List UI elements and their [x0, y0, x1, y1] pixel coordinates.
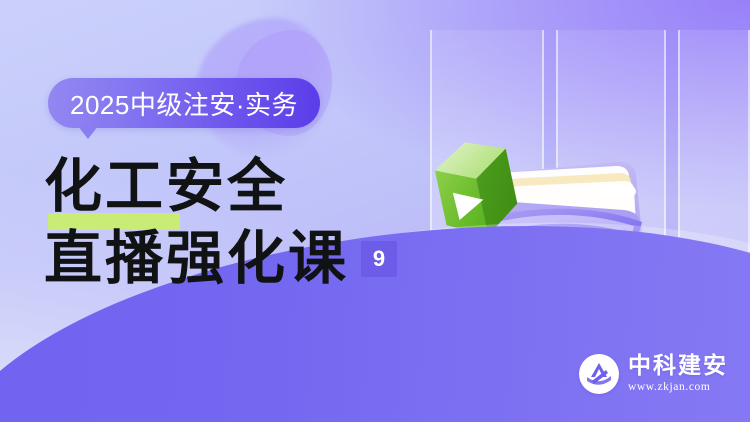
course-badge-tail-icon: [78, 126, 98, 139]
headline-line-2: 直播强化课9: [44, 227, 397, 291]
brand-name: 中科建安: [628, 354, 728, 377]
headline-line-1-text: 化工安全: [44, 154, 288, 219]
brand-text: 中科建安 www.zkjan.com: [628, 354, 728, 394]
brand-logo: 中科建安 www.zkjan.com: [579, 354, 728, 394]
course-badge: 2025中级注安·实务: [48, 78, 320, 128]
headline-line-2-text: 直播强化课: [44, 226, 349, 291]
headline: 化工安全 直播强化课9: [44, 155, 397, 291]
poster-banner: 2025中级注安·实务 化工安全 直播强化课9 中科建安 www.zkjan.c…: [0, 0, 750, 422]
episode-number-badge: 9: [361, 241, 397, 277]
course-badge-label: 2025中级注安·实务: [48, 78, 320, 128]
zkjan-logo-icon: [579, 354, 619, 394]
brand-url: www.zkjan.com: [628, 382, 728, 394]
headline-line-1: 化工安全: [44, 155, 397, 219]
folder-tab-icon: [598, 186, 636, 197]
